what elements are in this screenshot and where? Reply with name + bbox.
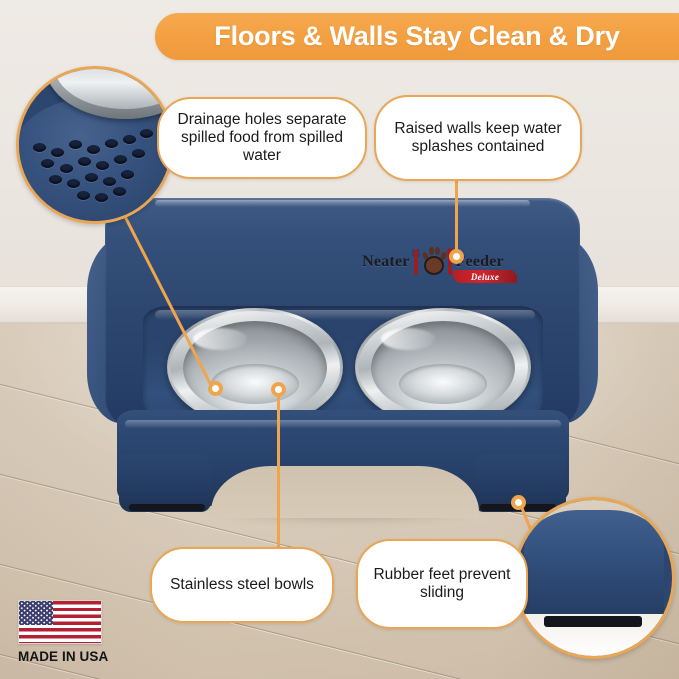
drainage-hole [123, 135, 136, 144]
drainage-holes-magnifier [16, 66, 174, 224]
drainage-hole [132, 149, 145, 158]
neater-feeder-product: Neater Feeder Deluxe [95, 198, 590, 518]
callout-walls-text: Raised walls keep water splashes contain… [376, 120, 580, 156]
drainage-hole [85, 173, 98, 182]
bowl-base-disc [399, 364, 487, 404]
drainage-hole [140, 129, 153, 138]
made-in-usa-badge: MADE IN USA [18, 600, 110, 662]
brand-sub-label: Deluxe [471, 272, 499, 282]
drainage-hole [77, 191, 90, 200]
usa-flag-icon [18, 600, 102, 644]
callout-drainage-holes[interactable]: Drainage holes separate spilled food fro… [157, 97, 367, 179]
fork-icon [414, 253, 418, 275]
bowl-highlight [381, 328, 435, 350]
drainage-hole [121, 170, 134, 179]
magnified-leg-body [524, 510, 664, 622]
paw-toe [435, 247, 440, 255]
leader-dot-bowls [271, 382, 286, 397]
callout-feet-text: Rubber feet prevent sliding [358, 566, 526, 602]
rubber-foot-magnifier [513, 497, 675, 659]
banner-title: Floors & Walls Stay Clean & Dry [214, 21, 619, 52]
flag-canton [19, 601, 53, 625]
leader-dot-feet [511, 495, 526, 510]
drainage-hole [96, 161, 109, 170]
bowl-highlight [193, 328, 247, 350]
drainage-hole [60, 164, 73, 173]
drainage-hole [78, 157, 91, 166]
header-banner: Floors & Walls Stay Clean & Dry [155, 13, 679, 60]
drainage-hole [105, 139, 118, 148]
paw-pad [424, 256, 444, 275]
base-arch-cutout [211, 466, 479, 518]
callout-stainless-bowls[interactable]: Stainless steel bowls [150, 547, 334, 623]
callout-bowls-text: Stainless steel bowls [161, 576, 323, 594]
leader-line-bowls [277, 387, 280, 552]
drainage-hole [113, 187, 126, 196]
paw-print-icon [413, 245, 453, 279]
brand-sub-banner: Deluxe [453, 270, 517, 283]
drainage-hole [67, 179, 80, 188]
drainage-hole [51, 148, 64, 157]
paw-toe [429, 247, 434, 255]
drainage-hole [69, 140, 82, 149]
drainage-hole [87, 145, 100, 154]
leader-dot-drainage [208, 381, 223, 396]
brand-logo: Neater Feeder Deluxe [343, 240, 523, 284]
callout-raised-walls[interactable]: Raised walls keep water splashes contain… [374, 95, 582, 181]
drainage-hole [103, 177, 116, 186]
base-seam-highlight [125, 420, 561, 428]
rubber-foot-left [129, 504, 205, 511]
magnified-rubber-foot [544, 616, 642, 627]
brand-name-first: Neater [362, 253, 409, 271]
drainage-hole [41, 159, 54, 168]
drainage-hole [95, 193, 108, 202]
callout-drainage-text: Drainage holes separate spilled food fro… [159, 111, 365, 165]
drainage-hole [49, 175, 62, 184]
drainage-hole [33, 143, 46, 152]
bowl-base-disc [211, 364, 299, 404]
callout-rubber-feet[interactable]: Rubber feet prevent sliding [356, 539, 528, 629]
feeder-rim-highlight [155, 200, 530, 207]
drainage-hole [114, 155, 127, 164]
paw-glyph [422, 246, 446, 276]
infographic-canvas: Neater Feeder Deluxe [0, 0, 679, 679]
made-in-usa-label: MADE IN USA [18, 649, 110, 664]
leader-dot-walls [449, 249, 464, 264]
